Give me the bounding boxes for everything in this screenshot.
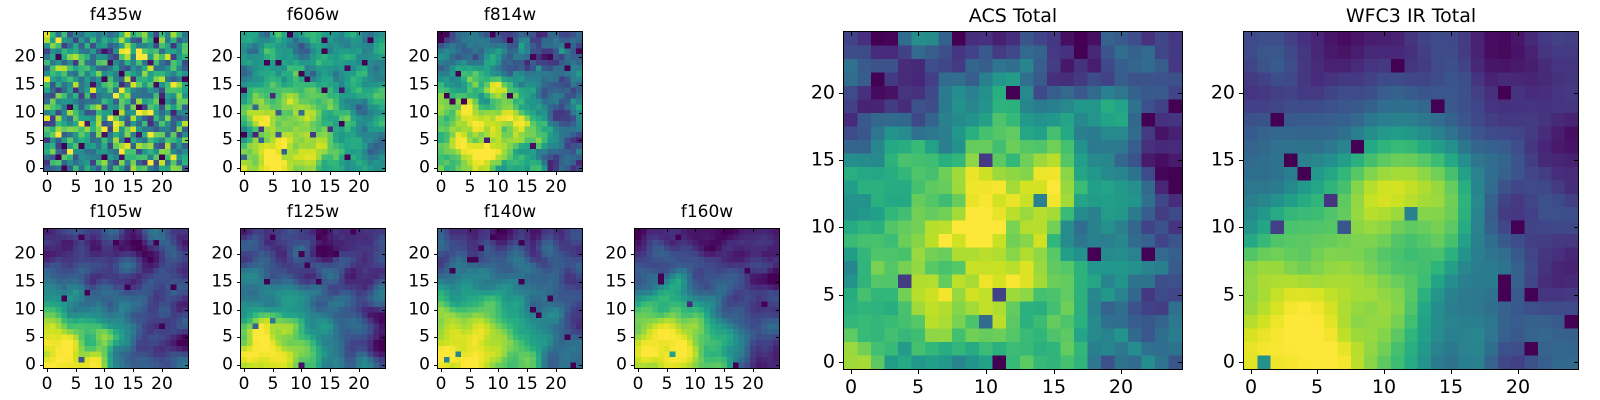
x-tick-f814w-20 [556, 172, 557, 175]
y-tick-inner-acs-total-0 [1178, 362, 1182, 363]
y-ticklabel-acs-total-20: 20 [801, 84, 835, 103]
y-ticklabel-acs-total-5: 5 [801, 286, 835, 305]
x-tick-inner-f606w-0 [244, 32, 245, 35]
panel-f435w: f435w0510152005101520 [1, 5, 189, 202]
x-ticklabel-f435w-15: 15 [122, 179, 144, 196]
x-tick-inner-f160w-10 [695, 229, 696, 232]
heatmap-axes-f606w[interactable] [240, 31, 386, 172]
y-tick-f105w-0 [40, 365, 43, 366]
x-ticklabel-acs-total-0: 0 [845, 378, 857, 397]
figure-canvas: f435w0510152005101520f606w05101520051015… [0, 0, 1600, 400]
heatmap-axes-wfc3-ir-total[interactable] [1243, 31, 1579, 370]
x-tick-inner-f606w-15 [330, 32, 331, 35]
x-tick-f140w-0 [441, 369, 442, 372]
y-tick-inner-f606w-10 [382, 113, 385, 114]
heatmap-axes-f140w[interactable] [437, 228, 583, 369]
x-ticklabel-acs-total-5: 5 [912, 378, 924, 397]
y-tick-f125w-10 [237, 310, 240, 311]
x-tick-inner-f160w-0 [638, 229, 639, 232]
y-tick-f606w-10 [237, 113, 240, 114]
y-tick-inner-wfc3-ir-total-10 [1574, 227, 1578, 228]
x-ticklabel-f814w-10: 10 [487, 179, 509, 196]
x-tick-inner-f160w-5 [667, 229, 668, 232]
y-tick-f435w-15 [40, 85, 43, 86]
y-tick-f435w-0 [40, 168, 43, 169]
y-tick-inner-f105w-10 [185, 310, 188, 311]
heatmap-image-f160w [635, 229, 779, 368]
x-tick-inner-f435w-15 [133, 32, 134, 35]
x-tick-inner-f814w-15 [527, 32, 528, 35]
x-tick-inner-f814w-10 [498, 32, 499, 35]
x-tick-f140w-20 [556, 369, 557, 372]
y-tick-f105w-20 [40, 254, 43, 255]
x-tick-f606w-15 [330, 172, 331, 175]
heatmap-image-f814w [438, 32, 582, 171]
panel-title-wfc3-ir-total: WFC3 IR Total [1243, 7, 1579, 26]
x-tick-inner-acs-total-5 [918, 32, 919, 36]
x-ticklabel-f814w-5: 5 [465, 179, 476, 196]
y-tick-f606w-20 [237, 57, 240, 58]
x-tick-inner-wfc3-ir-total-0 [1251, 32, 1252, 36]
x-tick-f125w-0 [244, 369, 245, 372]
y-tick-f606w-5 [237, 140, 240, 141]
y-tick-f125w-20 [237, 254, 240, 255]
x-ticklabel-f160w-10: 10 [684, 376, 706, 393]
x-ticklabel-f435w-20: 20 [151, 179, 173, 196]
y-tick-inner-f814w-20 [579, 57, 582, 58]
y-ticklabel-f140w-15: 15 [395, 274, 430, 291]
x-tick-inner-f105w-10 [104, 229, 105, 232]
x-ticklabel-f105w-20: 20 [151, 376, 173, 393]
panel-f606w: f606w0510152005101520 [198, 5, 386, 202]
x-tick-f140w-15 [527, 369, 528, 372]
x-ticklabel-f160w-20: 20 [742, 376, 764, 393]
y-ticklabel-f814w-20: 20 [395, 49, 430, 66]
x-tick-inner-wfc3-ir-total-5 [1317, 32, 1318, 36]
y-tick-inner-f814w-0 [579, 168, 582, 169]
x-ticklabel-f125w-0: 0 [239, 376, 250, 393]
x-ticklabel-f814w-0: 0 [436, 179, 447, 196]
x-ticklabel-wfc3-ir-total-15: 15 [1439, 378, 1463, 397]
y-tick-inner-acs-total-20 [1178, 93, 1182, 94]
y-tick-f814w-5 [434, 140, 437, 141]
x-tick-inner-f105w-0 [47, 229, 48, 232]
x-tick-f125w-5 [273, 369, 274, 372]
y-ticklabel-wfc3-ir-total-0: 0 [1201, 353, 1235, 372]
y-ticklabel-f606w-5: 5 [198, 132, 233, 149]
heatmap-image-f125w [241, 229, 385, 368]
heatmap-axes-f814w[interactable] [437, 31, 583, 172]
y-tick-inner-f140w-0 [579, 365, 582, 366]
y-tick-f435w-5 [40, 140, 43, 141]
y-tick-inner-f105w-20 [185, 254, 188, 255]
x-tick-inner-wfc3-ir-total-10 [1384, 32, 1385, 36]
x-tick-wfc3-ir-total-20 [1518, 370, 1519, 374]
y-tick-f140w-0 [434, 365, 437, 366]
x-tick-f160w-10 [695, 369, 696, 372]
x-ticklabel-f105w-10: 10 [93, 376, 115, 393]
x-tick-f606w-10 [301, 172, 302, 175]
x-tick-f160w-5 [667, 369, 668, 372]
y-tick-wfc3-ir-total-0 [1239, 362, 1243, 363]
x-ticklabel-f140w-10: 10 [487, 376, 509, 393]
x-ticklabel-f160w-0: 0 [633, 376, 644, 393]
x-tick-inner-f140w-20 [556, 229, 557, 232]
heatmap-axes-f105w[interactable] [43, 228, 189, 369]
x-tick-f435w-10 [104, 172, 105, 175]
heatmap-axes-f125w[interactable] [240, 228, 386, 369]
y-ticklabel-acs-total-10: 10 [801, 218, 835, 237]
heatmap-image-f606w [241, 32, 385, 171]
y-ticklabel-wfc3-ir-total-15: 15 [1201, 151, 1235, 170]
x-ticklabel-f140w-0: 0 [436, 376, 447, 393]
x-tick-inner-acs-total-10 [986, 32, 987, 36]
y-tick-f140w-20 [434, 254, 437, 255]
x-tick-wfc3-ir-total-0 [1251, 370, 1252, 374]
y-tick-wfc3-ir-total-20 [1239, 93, 1243, 94]
y-tick-f814w-15 [434, 85, 437, 86]
x-tick-inner-acs-total-15 [1054, 32, 1055, 36]
y-ticklabel-f125w-10: 10 [198, 302, 233, 319]
x-tick-inner-wfc3-ir-total-20 [1518, 32, 1519, 36]
x-ticklabel-wfc3-ir-total-20: 20 [1506, 378, 1530, 397]
y-ticklabel-f814w-15: 15 [395, 77, 430, 94]
y-tick-inner-f160w-5 [776, 337, 779, 338]
y-ticklabel-f435w-15: 15 [1, 77, 36, 94]
x-ticklabel-f606w-0: 0 [239, 179, 250, 196]
x-tick-inner-acs-total-20 [1121, 32, 1122, 36]
y-tick-inner-f140w-5 [579, 337, 582, 338]
x-tick-inner-f125w-5 [273, 229, 274, 232]
y-ticklabel-wfc3-ir-total-10: 10 [1201, 218, 1235, 237]
y-tick-inner-f160w-0 [776, 365, 779, 366]
y-tick-inner-f105w-5 [185, 337, 188, 338]
heatmap-axes-acs-total[interactable] [843, 31, 1183, 370]
y-ticklabel-acs-total-15: 15 [801, 151, 835, 170]
x-tick-inner-f125w-10 [301, 229, 302, 232]
y-tick-inner-f606w-20 [382, 57, 385, 58]
x-tick-inner-f125w-15 [330, 229, 331, 232]
x-ticklabel-f105w-5: 5 [71, 376, 82, 393]
heatmap-image-f435w [44, 32, 188, 171]
x-ticklabel-f814w-15: 15 [516, 179, 538, 196]
x-tick-f140w-5 [470, 369, 471, 372]
y-tick-f814w-20 [434, 57, 437, 58]
y-ticklabel-f125w-0: 0 [198, 357, 233, 374]
y-ticklabel-f140w-10: 10 [395, 302, 430, 319]
y-tick-f140w-15 [434, 282, 437, 283]
x-ticklabel-acs-total-15: 15 [1042, 378, 1066, 397]
y-ticklabel-f160w-5: 5 [592, 329, 627, 346]
panel-f160w: f160w0510152005101520 [592, 202, 780, 399]
y-tick-inner-f125w-15 [382, 282, 385, 283]
y-tick-f125w-15 [237, 282, 240, 283]
x-tick-inner-f814w-20 [556, 32, 557, 35]
y-ticklabel-f105w-5: 5 [1, 329, 36, 346]
x-ticklabel-f140w-15: 15 [516, 376, 538, 393]
x-ticklabel-f140w-5: 5 [465, 376, 476, 393]
y-ticklabel-f814w-5: 5 [395, 132, 430, 149]
x-tick-inner-f606w-20 [359, 32, 360, 35]
y-tick-inner-f606w-15 [382, 85, 385, 86]
x-tick-inner-f140w-10 [498, 229, 499, 232]
heatmap-image-f105w [44, 229, 188, 368]
x-tick-f606w-20 [359, 172, 360, 175]
y-tick-inner-f140w-10 [579, 310, 582, 311]
y-tick-f125w-5 [237, 337, 240, 338]
y-ticklabel-f435w-20: 20 [1, 49, 36, 66]
y-ticklabel-f105w-10: 10 [1, 302, 36, 319]
x-tick-f435w-15 [133, 172, 134, 175]
x-ticklabel-f125w-10: 10 [290, 376, 312, 393]
x-tick-inner-f435w-0 [47, 32, 48, 35]
y-ticklabel-f105w-20: 20 [1, 246, 36, 263]
panel-f814w: f814w0510152005101520 [395, 5, 583, 202]
y-tick-f814w-0 [434, 168, 437, 169]
x-ticklabel-f125w-15: 15 [319, 376, 341, 393]
panel-title-f140w: f140w [437, 204, 583, 221]
y-ticklabel-wfc3-ir-total-20: 20 [1201, 84, 1235, 103]
x-ticklabel-f606w-20: 20 [348, 179, 370, 196]
x-tick-f105w-0 [47, 369, 48, 372]
y-tick-wfc3-ir-total-5 [1239, 295, 1243, 296]
y-ticklabel-f140w-5: 5 [395, 329, 430, 346]
x-tick-wfc3-ir-total-5 [1317, 370, 1318, 374]
y-tick-wfc3-ir-total-15 [1239, 160, 1243, 161]
y-tick-inner-f435w-15 [185, 85, 188, 86]
x-ticklabel-f105w-0: 0 [42, 376, 53, 393]
x-tick-inner-f105w-20 [162, 229, 163, 232]
x-tick-inner-wfc3-ir-total-15 [1451, 32, 1452, 36]
y-tick-inner-f125w-10 [382, 310, 385, 311]
y-ticklabel-f160w-0: 0 [592, 357, 627, 374]
y-tick-inner-wfc3-ir-total-15 [1574, 160, 1578, 161]
y-tick-inner-wfc3-ir-total-20 [1574, 93, 1578, 94]
y-tick-inner-acs-total-5 [1178, 295, 1182, 296]
y-tick-acs-total-20 [839, 93, 843, 94]
y-ticklabel-f160w-10: 10 [592, 302, 627, 319]
heatmap-image-f140w [438, 229, 582, 368]
x-tick-inner-f125w-0 [244, 229, 245, 232]
y-ticklabel-f435w-10: 10 [1, 105, 36, 122]
y-tick-inner-f105w-0 [185, 365, 188, 366]
y-tick-inner-wfc3-ir-total-0 [1574, 362, 1578, 363]
y-tick-f140w-5 [434, 337, 437, 338]
y-tick-f160w-10 [631, 310, 634, 311]
y-ticklabel-f606w-0: 0 [198, 160, 233, 177]
heatmap-image-acs-total [844, 32, 1182, 369]
x-tick-inner-f814w-5 [470, 32, 471, 35]
y-ticklabel-f814w-0: 0 [395, 160, 430, 177]
x-tick-f160w-20 [753, 369, 754, 372]
x-tick-inner-f435w-20 [162, 32, 163, 35]
x-tick-f606w-0 [244, 172, 245, 175]
x-ticklabel-f435w-0: 0 [42, 179, 53, 196]
x-ticklabel-f140w-20: 20 [545, 376, 567, 393]
y-ticklabel-acs-total-0: 0 [801, 353, 835, 372]
x-ticklabel-f435w-10: 10 [93, 179, 115, 196]
panel-title-f160w: f160w [634, 204, 780, 221]
x-ticklabel-f125w-20: 20 [348, 376, 370, 393]
y-ticklabel-f160w-15: 15 [592, 274, 627, 291]
panel-f125w: f125w0510152005101520 [198, 202, 386, 399]
x-tick-f435w-5 [76, 172, 77, 175]
x-tick-f105w-10 [104, 369, 105, 372]
y-tick-inner-f814w-10 [579, 113, 582, 114]
y-tick-acs-total-0 [839, 362, 843, 363]
x-tick-f814w-10 [498, 172, 499, 175]
x-tick-f814w-5 [470, 172, 471, 175]
y-tick-inner-acs-total-15 [1178, 160, 1182, 161]
panel-title-acs-total: ACS Total [843, 7, 1183, 26]
y-tick-inner-f125w-0 [382, 365, 385, 366]
x-tick-f125w-15 [330, 369, 331, 372]
x-tick-acs-total-15 [1054, 370, 1055, 374]
x-tick-wfc3-ir-total-15 [1451, 370, 1452, 374]
y-tick-inner-f435w-10 [185, 113, 188, 114]
y-tick-f105w-10 [40, 310, 43, 311]
x-tick-wfc3-ir-total-10 [1384, 370, 1385, 374]
y-ticklabel-f606w-15: 15 [198, 77, 233, 94]
y-tick-f140w-10 [434, 310, 437, 311]
x-ticklabel-f105w-15: 15 [122, 376, 144, 393]
y-tick-inner-f435w-20 [185, 57, 188, 58]
x-tick-f160w-15 [724, 369, 725, 372]
x-tick-f435w-0 [47, 172, 48, 175]
y-tick-inner-f606w-5 [382, 140, 385, 141]
x-tick-f814w-0 [441, 172, 442, 175]
y-tick-inner-wfc3-ir-total-5 [1574, 295, 1578, 296]
y-tick-f160w-5 [631, 337, 634, 338]
panel-title-f814w: f814w [437, 7, 583, 24]
y-ticklabel-f125w-20: 20 [198, 246, 233, 263]
x-tick-inner-f140w-5 [470, 229, 471, 232]
y-ticklabel-f435w-0: 0 [1, 160, 36, 177]
y-ticklabel-f435w-5: 5 [1, 132, 36, 149]
y-ticklabel-f606w-10: 10 [198, 105, 233, 122]
y-ticklabel-f105w-15: 15 [1, 274, 36, 291]
panel-title-f606w: f606w [240, 7, 386, 24]
y-tick-inner-f140w-15 [579, 282, 582, 283]
y-ticklabel-f814w-10: 10 [395, 105, 430, 122]
y-tick-inner-f160w-15 [776, 282, 779, 283]
x-ticklabel-wfc3-ir-total-10: 10 [1372, 378, 1396, 397]
x-tick-acs-total-20 [1121, 370, 1122, 374]
y-ticklabel-f140w-0: 0 [395, 357, 430, 374]
x-tick-f140w-10 [498, 369, 499, 372]
y-tick-inner-acs-total-10 [1178, 227, 1182, 228]
y-tick-inner-f125w-5 [382, 337, 385, 338]
y-tick-inner-f814w-5 [579, 140, 582, 141]
x-tick-inner-f140w-15 [527, 229, 528, 232]
x-tick-inner-f814w-0 [441, 32, 442, 35]
x-tick-f606w-5 [273, 172, 274, 175]
x-tick-f125w-20 [359, 369, 360, 372]
y-tick-inner-f606w-0 [382, 168, 385, 169]
y-tick-inner-f105w-15 [185, 282, 188, 283]
x-tick-f105w-15 [133, 369, 134, 372]
y-tick-f606w-15 [237, 85, 240, 86]
y-ticklabel-f125w-5: 5 [198, 329, 233, 346]
panel-title-f125w: f125w [240, 204, 386, 221]
y-ticklabel-f160w-20: 20 [592, 246, 627, 263]
y-tick-f105w-15 [40, 282, 43, 283]
x-tick-inner-f105w-5 [76, 229, 77, 232]
panel-f140w: f140w0510152005101520 [395, 202, 583, 399]
x-tick-inner-acs-total-0 [851, 32, 852, 36]
y-tick-f814w-10 [434, 113, 437, 114]
heatmap-image-wfc3-ir-total [1244, 32, 1578, 369]
y-tick-f160w-0 [631, 365, 634, 366]
x-ticklabel-wfc3-ir-total-5: 5 [1311, 378, 1323, 397]
x-tick-inner-f125w-20 [359, 229, 360, 232]
y-tick-f105w-5 [40, 337, 43, 338]
panel-wfc3-ir-total: WFC3 IR Total0510152005101520 [1201, 5, 1579, 400]
y-ticklabel-f140w-20: 20 [395, 246, 430, 263]
y-tick-inner-f814w-15 [579, 85, 582, 86]
panel-title-f435w: f435w [43, 7, 189, 24]
x-ticklabel-f435w-5: 5 [71, 179, 82, 196]
y-tick-acs-total-10 [839, 227, 843, 228]
x-tick-inner-f160w-20 [753, 229, 754, 232]
y-tick-f606w-0 [237, 168, 240, 169]
y-ticklabel-wfc3-ir-total-5: 5 [1201, 286, 1235, 305]
x-tick-inner-f606w-5 [273, 32, 274, 35]
x-tick-inner-f435w-5 [76, 32, 77, 35]
y-tick-f435w-20 [40, 57, 43, 58]
x-ticklabel-f606w-5: 5 [268, 179, 279, 196]
x-tick-f160w-0 [638, 369, 639, 372]
heatmap-axes-f435w[interactable] [43, 31, 189, 172]
x-ticklabel-f160w-5: 5 [662, 376, 673, 393]
y-tick-inner-f435w-0 [185, 168, 188, 169]
x-ticklabel-acs-total-20: 20 [1109, 378, 1133, 397]
x-tick-f435w-20 [162, 172, 163, 175]
x-ticklabel-acs-total-10: 10 [974, 378, 998, 397]
y-ticklabel-f105w-0: 0 [1, 357, 36, 374]
x-tick-inner-f435w-10 [104, 32, 105, 35]
x-tick-f125w-10 [301, 369, 302, 372]
x-tick-f814w-15 [527, 172, 528, 175]
x-ticklabel-f606w-15: 15 [319, 179, 341, 196]
y-tick-f160w-20 [631, 254, 634, 255]
y-tick-wfc3-ir-total-10 [1239, 227, 1243, 228]
x-tick-inner-f105w-15 [133, 229, 134, 232]
y-ticklabel-f606w-20: 20 [198, 49, 233, 66]
x-ticklabel-f160w-15: 15 [713, 376, 735, 393]
x-tick-acs-total-0 [851, 370, 852, 374]
y-tick-inner-f435w-5 [185, 140, 188, 141]
y-tick-inner-f160w-20 [776, 254, 779, 255]
x-ticklabel-f606w-10: 10 [290, 179, 312, 196]
panel-f105w: f105w0510152005101520 [1, 202, 189, 399]
x-tick-acs-total-5 [918, 370, 919, 374]
x-tick-f105w-5 [76, 369, 77, 372]
y-tick-inner-f125w-20 [382, 254, 385, 255]
y-tick-f125w-0 [237, 365, 240, 366]
panel-title-f105w: f105w [43, 204, 189, 221]
x-ticklabel-f125w-5: 5 [268, 376, 279, 393]
y-tick-f435w-10 [40, 113, 43, 114]
x-tick-inner-f160w-15 [724, 229, 725, 232]
heatmap-axes-f160w[interactable] [634, 228, 780, 369]
x-tick-f105w-20 [162, 369, 163, 372]
x-tick-inner-f140w-0 [441, 229, 442, 232]
y-tick-acs-total-5 [839, 295, 843, 296]
x-tick-acs-total-10 [986, 370, 987, 374]
y-tick-f160w-15 [631, 282, 634, 283]
y-tick-inner-f140w-20 [579, 254, 582, 255]
